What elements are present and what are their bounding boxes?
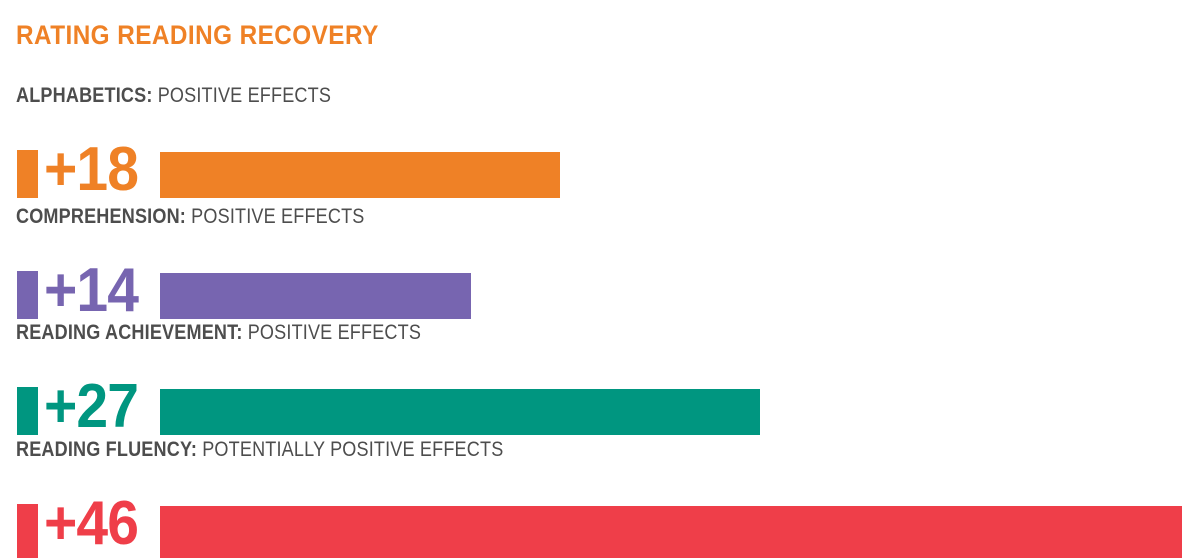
tick-block-alphabetics bbox=[17, 150, 38, 198]
row-domain-label: READING ACHIEVEMENT: bbox=[16, 321, 243, 344]
row-domain-label: COMPREHENSION: bbox=[16, 205, 186, 228]
row-label-comprehension: COMPREHENSION: POSITIVE EFFECTS bbox=[16, 205, 365, 229]
row-rating-label: POTENTIALLY POSITIVE EFFECTS bbox=[197, 438, 503, 461]
row-label-alphabetics: ALPHABETICS: POSITIVE EFFECTS bbox=[16, 84, 331, 108]
value-label-alphabetics: +18 bbox=[44, 139, 138, 201]
row-label-reading-fluency: READING FLUENCY: POTENTIALLY POSITIVE EF… bbox=[16, 438, 503, 462]
row-label-reading-achievement: READING ACHIEVEMENT: POSITIVE EFFECTS bbox=[16, 321, 421, 345]
value-label-reading-achievement: +27 bbox=[44, 376, 138, 438]
tick-block-reading-achievement bbox=[17, 387, 38, 435]
bar-comprehension bbox=[160, 273, 471, 319]
row-rating-label: POSITIVE EFFECTS bbox=[153, 84, 332, 107]
bar-reading-fluency bbox=[160, 506, 1182, 558]
tick-block-comprehension bbox=[17, 271, 38, 319]
row-domain-label: READING FLUENCY: bbox=[16, 438, 197, 461]
page-title: RATING READING RECOVERY bbox=[16, 20, 379, 50]
value-label-comprehension: +14 bbox=[44, 260, 138, 322]
bar-alphabetics bbox=[160, 152, 560, 198]
row-rating-label: POSITIVE EFFECTS bbox=[243, 321, 422, 344]
bar-reading-achievement bbox=[160, 389, 760, 435]
infographic-root: RATING READING RECOVERY ALPHABETICS: POS… bbox=[0, 0, 1200, 550]
row-domain-label: ALPHABETICS: bbox=[16, 84, 153, 107]
value-label-reading-fluency: +46 bbox=[44, 493, 138, 555]
row-rating-label: POSITIVE EFFECTS bbox=[186, 205, 365, 228]
